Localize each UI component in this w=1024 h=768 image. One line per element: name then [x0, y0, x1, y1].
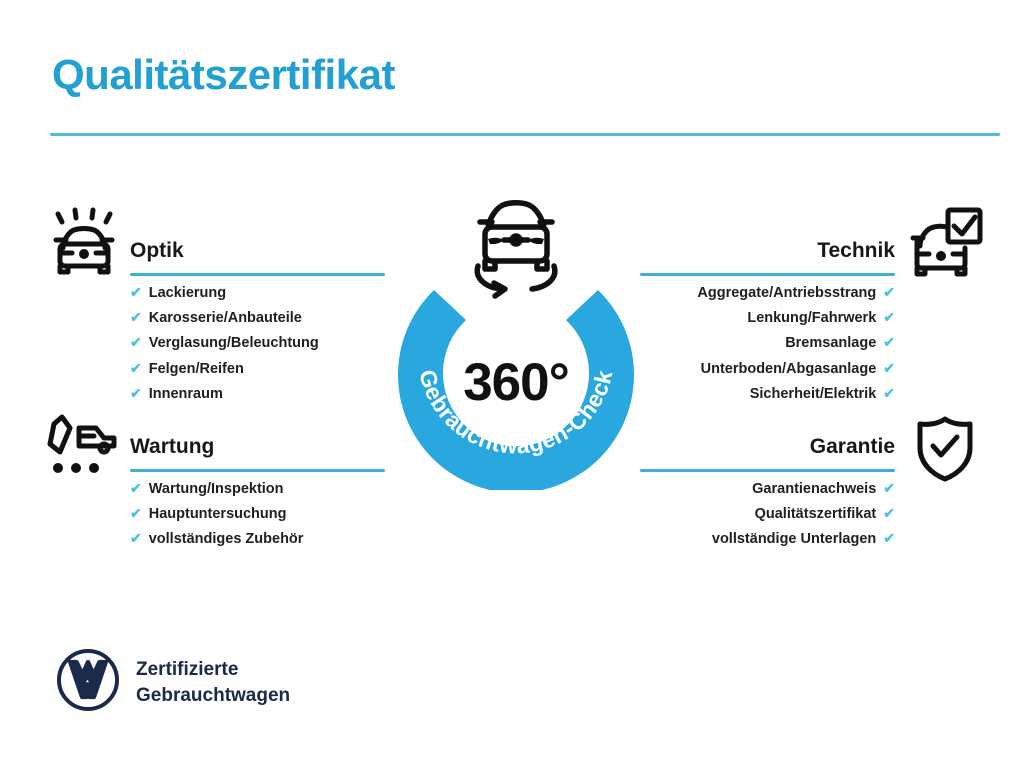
check-icon: ✔	[883, 476, 895, 500]
check-icon: ✔	[130, 305, 142, 329]
list-item-label: vollständige Unterlagen	[712, 527, 876, 551]
footer-branding-text: Zertifizierte Gebrauchtwagen	[136, 657, 290, 709]
list-item-label: Garantienachweis	[752, 477, 876, 501]
section-optik: Optik ✔ Lackierung ✔ Karosserie/Anbautei…	[130, 236, 385, 406]
check-icon: ✔	[130, 501, 142, 525]
list-item-label: Bremsanlage	[785, 331, 876, 355]
list-item: ✔ Verglasung/Beleuchtung	[130, 330, 385, 355]
page-title: Qualitätszertifikat	[52, 52, 395, 98]
car-rotate-360-icon	[452, 192, 580, 309]
section-garantie-list: Garantienachweis ✔ Qualitätszertifikat ✔…	[640, 476, 895, 552]
list-item-label: Verglasung/Beleuchtung	[149, 331, 319, 355]
list-item: ✔ vollständiges Zubehör	[130, 526, 385, 551]
section-wartung-underline	[130, 469, 385, 472]
check-icon: ✔	[883, 381, 895, 405]
list-item-label: Wartung/Inspektion	[149, 477, 284, 501]
section-technik-list: Aggregate/Antriebsstrang ✔ Lenkung/Fahrw…	[640, 280, 895, 406]
gebrauchtwagen-check-badge: Gebrauchtwagen-Check 360°	[376, 192, 656, 492]
section-wartung: Wartung ✔ Wartung/Inspektion ✔ Hauptunte…	[130, 432, 385, 552]
section-wartung-list: ✔ Wartung/Inspektion ✔ Hauptuntersuchung…	[130, 476, 385, 552]
section-optik-header: Optik	[130, 236, 385, 280]
list-item-label: Sicherheit/Elektrik	[750, 382, 877, 406]
list-item-label: Lenkung/Fahrwerk	[747, 306, 876, 330]
section-wartung-title: Wartung	[130, 432, 385, 462]
shield-check-icon	[912, 414, 978, 489]
check-icon: ✔	[130, 280, 142, 304]
list-item-label: Lackierung	[149, 281, 226, 305]
check-icon: ✔	[883, 330, 895, 354]
footer-branding: Zertifizierte Gebrauchtwagen	[56, 648, 290, 717]
list-item: Unterboden/Abgasanlage ✔	[640, 356, 895, 381]
car-checkbox-icon	[908, 206, 984, 283]
list-item: Bremsanlage ✔	[640, 330, 895, 355]
section-optik-underline	[130, 273, 385, 276]
car-front-shine-icon	[46, 206, 124, 283]
check-icon: ✔	[130, 476, 142, 500]
list-item: ✔ Wartung/Inspektion	[130, 476, 385, 501]
check-icon: ✔	[130, 526, 142, 550]
list-item: Sicherheit/Elektrik ✔	[640, 381, 895, 406]
list-item-label: Qualitätszertifikat	[755, 502, 877, 526]
list-item-label: Innenraum	[149, 382, 223, 406]
list-item-label: Karosserie/Anbauteile	[149, 306, 302, 330]
list-item: Lenkung/Fahrwerk ✔	[640, 305, 895, 330]
list-item: Garantienachweis ✔	[640, 476, 895, 501]
list-item: Aggregate/Antriebsstrang ✔	[640, 280, 895, 305]
check-icon: ✔	[130, 356, 142, 380]
section-technik-underline	[640, 273, 895, 276]
section-optik-list: ✔ Lackierung ✔ Karosserie/Anbauteile ✔ V…	[130, 280, 385, 406]
section-garantie: Garantie Garantienachweis ✔ Qualitätszer…	[640, 432, 895, 552]
section-garantie-underline	[640, 469, 895, 472]
section-technik-title: Technik	[640, 236, 895, 266]
section-technik-header: Technik	[640, 236, 895, 280]
pen-car-service-icon	[46, 414, 126, 485]
check-icon: ✔	[883, 526, 895, 550]
list-item: ✔ Lackierung	[130, 280, 385, 305]
check-icon: ✔	[883, 280, 895, 304]
list-item: ✔ Karosserie/Anbauteile	[130, 305, 385, 330]
section-garantie-title: Garantie	[640, 432, 895, 462]
header-divider	[50, 133, 1000, 136]
list-item: ✔ Hauptuntersuchung	[130, 501, 385, 526]
section-garantie-header: Garantie	[640, 432, 895, 476]
vw-logo-icon	[56, 648, 120, 717]
section-optik-title: Optik	[130, 236, 385, 266]
list-item-label: Unterboden/Abgasanlage	[701, 357, 877, 381]
list-item-label: Aggregate/Antriebsstrang	[697, 281, 876, 305]
list-item: ✔ Felgen/Reifen	[130, 356, 385, 381]
check-icon: ✔	[130, 381, 142, 405]
list-item: vollständige Unterlagen ✔	[640, 526, 895, 551]
badge-degrees-label: 360°	[376, 352, 656, 413]
section-wartung-header: Wartung	[130, 432, 385, 476]
list-item-label: Felgen/Reifen	[149, 357, 244, 381]
section-technik: Technik Aggregate/Antriebsstrang ✔ Lenku…	[640, 236, 895, 406]
list-item: Qualitätszertifikat ✔	[640, 501, 895, 526]
list-item-label: vollständiges Zubehör	[149, 527, 304, 551]
list-item-label: Hauptuntersuchung	[149, 502, 287, 526]
list-item: ✔ Innenraum	[130, 381, 385, 406]
check-icon: ✔	[883, 305, 895, 329]
check-icon: ✔	[130, 330, 142, 354]
check-icon: ✔	[883, 356, 895, 380]
check-icon: ✔	[883, 501, 895, 525]
